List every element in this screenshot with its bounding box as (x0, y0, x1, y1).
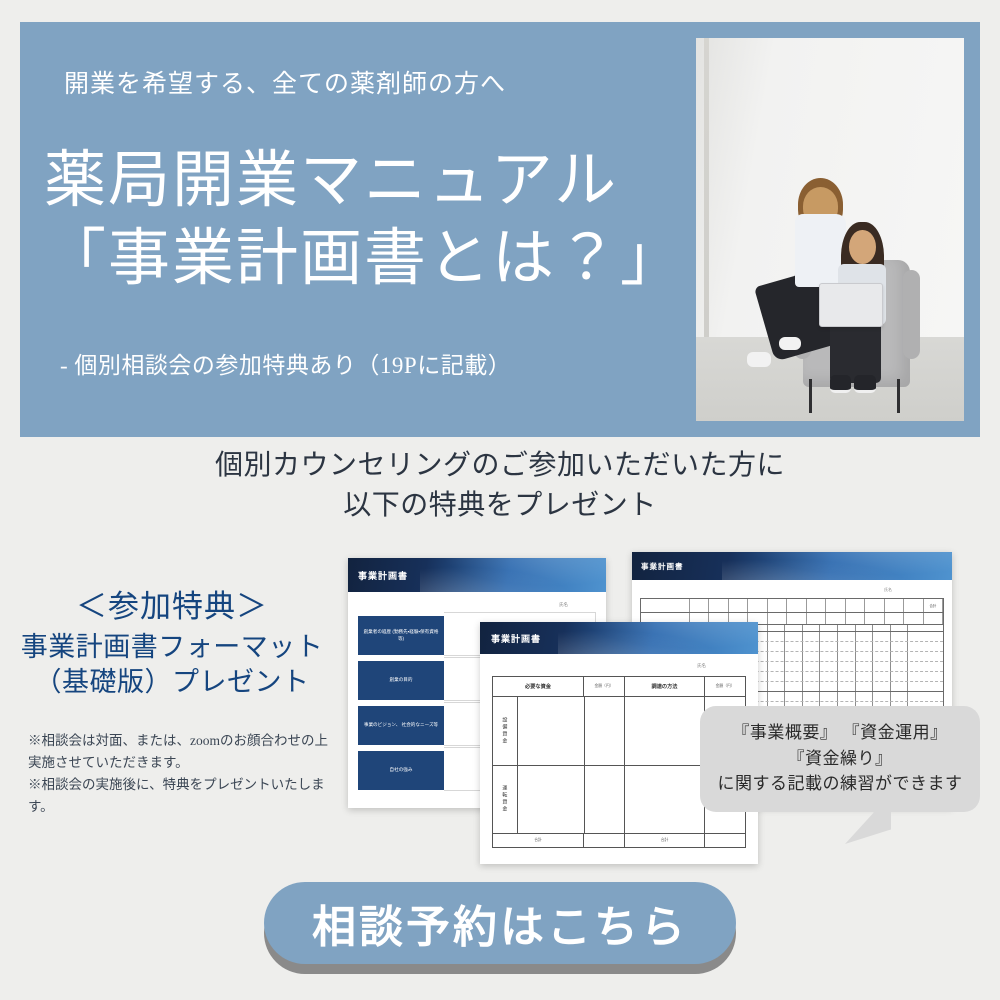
doc-c-title: 事業計画書 (641, 561, 684, 572)
doc-b-cell (585, 697, 626, 765)
photo-wall-edge (704, 38, 709, 337)
doc-b-foot-total-label-1: 合計 (493, 834, 584, 847)
hero-title-line2: 「事業計画書とは？」 (44, 224, 684, 296)
doc-c-header-band: 事業計画書 (632, 552, 952, 580)
photo-person1-shoe-b (779, 337, 800, 350)
doc-c-hcell2 (885, 613, 904, 624)
doc-a-row-label: 事業のビジョン、 社会的なニーズ等 (358, 706, 444, 745)
benefit-line1: 事業計画書フォーマット (12, 630, 332, 665)
doc-c-hcell (729, 599, 748, 612)
doc-c-hcell (709, 599, 728, 612)
doc-c-name-label: 氏名 (884, 587, 892, 593)
doc-c-hcell2 (846, 613, 865, 624)
doc-c-hcell (807, 599, 826, 612)
speech-bubble: 『事業概要』 『資金運用』 『資金繰り』 に関する記載の練習ができます (700, 706, 980, 812)
photo-chair-leg-left (809, 379, 812, 413)
doc-c-hcell2 (787, 613, 806, 624)
doc-a-row-label: 創業者の経歴 (勤務先・経験・保有資格等) (358, 616, 444, 655)
doc-b-row-label-cell: 運転資金 (493, 766, 518, 834)
doc-a-header-band: 事業計画書 (348, 558, 606, 592)
doc-b-title: 事業計画書 (491, 632, 541, 645)
doc-c-hcell (748, 599, 767, 612)
bubble-line3: に関する記載の練習ができます (710, 771, 970, 797)
lead-line1: 個別カウンセリングのご参加いただいた方に (0, 446, 1000, 486)
doc-c-hcell2 (904, 613, 923, 624)
bubble-line1: 『事業概要』 『資金運用』 (710, 720, 970, 746)
benefit-line2: （基礎版）プレゼント (12, 665, 332, 700)
photo-person1-shoe-a (747, 352, 771, 367)
doc-b-foot-total-label-2: 合計 (625, 834, 705, 847)
doc-b-table-foot: 合計 合計 (493, 833, 745, 847)
doc-b-cell (585, 766, 626, 834)
cta-wrapper: 相談予約はこちら (264, 882, 736, 974)
photo-person2-head (849, 230, 876, 264)
doc-c-hcell (690, 599, 709, 612)
doc-a-row-label: 自社の強み (358, 751, 444, 790)
doc-b-col-header-need: 必要な資金 (493, 677, 584, 696)
doc-c-corner-cell (641, 599, 690, 612)
benefit-heading: ＜参加特典＞ (12, 588, 332, 627)
doc-c-header-row-1: 合計 (641, 599, 943, 613)
hero-title-line1: 薬局開業マニュアル (44, 147, 618, 215)
doc-c-hcell2 (865, 613, 884, 624)
doc-c-hcell2 (768, 613, 787, 624)
doc-b-table-head: 必要な資金 金額（円） 調達の方法 金額（円） (493, 677, 745, 697)
page-title: 薬局開業マニュアル 「事業計画書とは？」 (44, 146, 684, 296)
doc-a-row-label: 創業の目的 (358, 661, 444, 700)
photo-person2-shoe-a (830, 375, 851, 393)
doc-b-col-header-amount2: 金額（円） (705, 677, 745, 696)
doc-a-name-label: 氏名 (559, 602, 568, 608)
photo-person2-legs (830, 318, 881, 383)
doc-b-name-label: 氏名 (697, 663, 706, 669)
doc-b-cell (518, 697, 585, 765)
doc-c-hcell (787, 599, 806, 612)
doc-b-cell (625, 697, 705, 765)
doc-c-hcell2 (924, 613, 943, 624)
doc-b-cell (625, 766, 705, 834)
doc-c-hcell (885, 599, 904, 612)
doc-b-cell (518, 766, 585, 834)
hero-photo (696, 38, 964, 421)
promo-page: 開業を希望する、全ての薬剤師の方へ 薬局開業マニュアル 「事業計画書とは？」 -… (0, 0, 1000, 1000)
bubble-line2: 『資金繰り』 (710, 746, 970, 772)
doc-b-foot-amount-1 (584, 834, 625, 847)
photo-person2-shoe-b (854, 375, 875, 393)
doc-c-hcell (826, 599, 845, 612)
hero-panel: 開業を希望する、全ての薬剤師の方へ 薬局開業マニュアル 「事業計画書とは？」 -… (20, 22, 980, 437)
lead-text: 個別カウンセリングのご参加いただいた方に 以下の特典をプレゼント (0, 446, 1000, 526)
benefit-block: ＜参加特典＞ 事業計画書フォーマット （基礎版）プレゼント (12, 588, 332, 700)
doc-c-hcell (846, 599, 865, 612)
photo-laptop (819, 283, 883, 327)
hero-note: - 個別相談会の参加特典あり（19Pに記載） (60, 346, 684, 380)
doc-c-hcell (865, 599, 884, 612)
doc-b-row-label: 運転資金 (501, 785, 508, 813)
doc-c-hcell2 (807, 613, 826, 624)
doc-b-nameline: 氏名 (480, 654, 758, 676)
doc-b-row-label: 設備資金 (501, 717, 508, 745)
reservation-cta-button[interactable]: 相談予約はこちら (264, 882, 736, 964)
doc-b-foot-amount-2 (705, 834, 745, 847)
doc-c-hcell2 (826, 613, 845, 624)
doc-b-col-header-amount1: 金額（円） (584, 677, 625, 696)
doc-a-title: 事業計画書 (358, 569, 408, 582)
doc-c-hcell (768, 599, 787, 612)
disclaimer-note-1: ※相談会は対面、または、zoomのお顔合わせの上実施させていただきます。 (28, 730, 328, 774)
hero-kicker: 開業を希望する、全ての薬剤師の方へ (64, 64, 684, 100)
lead-line2: 以下の特典をプレゼント (0, 486, 1000, 526)
doc-c-total-header: 合計 (924, 599, 943, 612)
doc-b-col-header-method: 調達の方法 (625, 677, 705, 696)
disclaimer-note-2: ※相談会の実施後に、特典をプレゼントいたします。 (28, 774, 328, 818)
disclaimer-notes: ※相談会は対面、または、zoomのお顔合わせの上実施させていただきます。 ※相談… (28, 730, 328, 817)
doc-c-nameline: 氏名 (632, 580, 952, 598)
doc-b-header-band: 事業計画書 (480, 622, 758, 654)
photo-chair-leg-right (897, 379, 900, 413)
doc-c-hcell (904, 599, 923, 612)
hero-text-block: 開業を希望する、全ての薬剤師の方へ 薬局開業マニュアル 「事業計画書とは？」 -… (44, 52, 684, 380)
doc-b-row-label-cell: 設備資金 (493, 697, 518, 765)
